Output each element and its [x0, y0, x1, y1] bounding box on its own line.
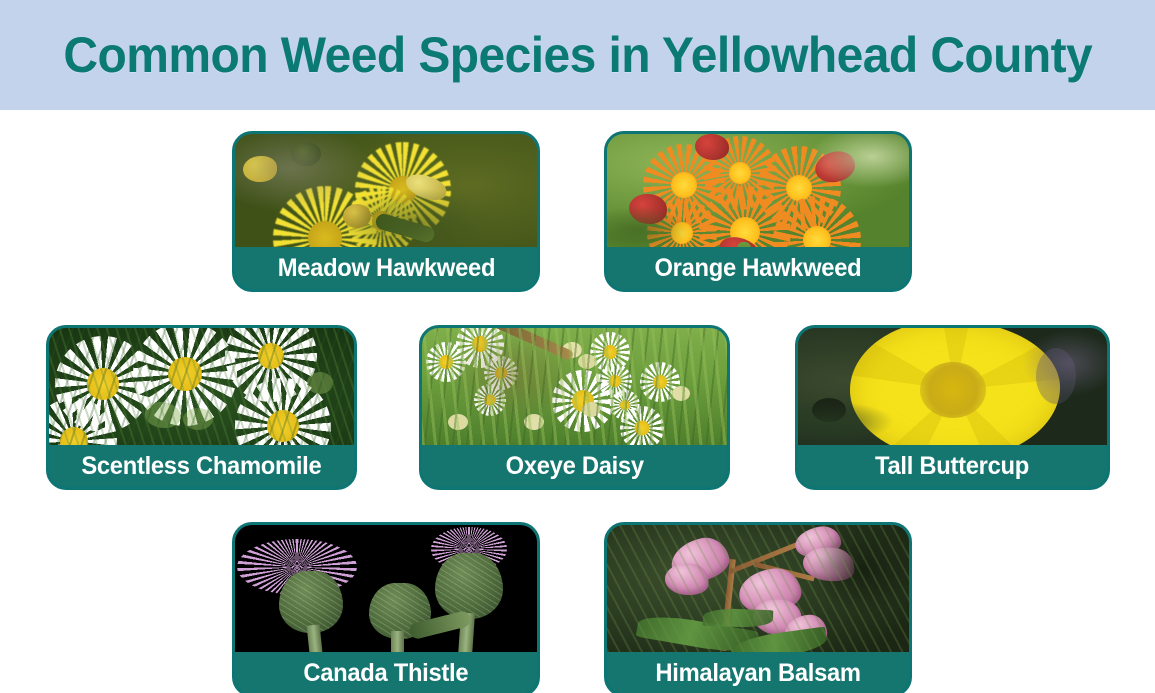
card-scentless-chamomile[interactable]: Scentless Chamomile	[46, 325, 357, 490]
caption-himalayan-balsam: Himalayan Balsam	[607, 652, 909, 693]
caption-tall-buttercup: Tall Buttercup	[798, 445, 1107, 487]
card-oxeye-daisy[interactable]: Oxeye Daisy	[419, 325, 730, 490]
caption-text: Orange Hawkweed	[655, 256, 862, 281]
caption-oxeye-daisy: Oxeye Daisy	[422, 445, 727, 487]
caption-text: Tall Buttercup	[876, 454, 1030, 479]
caption-text: Himalayan Balsam	[655, 661, 860, 686]
caption-scentless-chamomile: Scentless Chamomile	[49, 445, 354, 487]
card-himalayan-balsam[interactable]: Himalayan Balsam	[604, 522, 912, 693]
page-title: Common Weed Species in Yellowhead County	[63, 30, 1092, 80]
photo-orange-hawkweed	[607, 134, 909, 247]
photo-himalayan-balsam	[607, 525, 909, 652]
photo-scentless-chamomile	[49, 328, 354, 445]
caption-meadow-hawkweed: Meadow Hawkweed	[235, 247, 537, 289]
title-banner: Common Weed Species in Yellowhead County	[0, 0, 1155, 110]
card-orange-hawkweed[interactable]: Orange Hawkweed	[604, 131, 912, 292]
photo-oxeye-daisy	[422, 328, 727, 445]
caption-text: Scentless Chamomile	[81, 454, 321, 479]
photo-meadow-hawkweed	[235, 134, 537, 247]
card-canada-thistle[interactable]: Canada Thistle	[232, 522, 540, 693]
photo-canada-thistle	[235, 525, 537, 652]
poster-page: Common Weed Species in Yellowhead County	[0, 0, 1155, 693]
caption-text: Canada Thistle	[304, 661, 469, 686]
photo-tall-buttercup	[798, 328, 1107, 445]
caption-orange-hawkweed: Orange Hawkweed	[607, 247, 909, 289]
caption-text: Meadow Hawkweed	[277, 256, 494, 281]
caption-text: Oxeye Daisy	[505, 454, 643, 479]
card-meadow-hawkweed[interactable]: Meadow Hawkweed	[232, 131, 540, 292]
card-tall-buttercup[interactable]: Tall Buttercup	[795, 325, 1110, 490]
caption-canada-thistle: Canada Thistle	[235, 652, 537, 693]
